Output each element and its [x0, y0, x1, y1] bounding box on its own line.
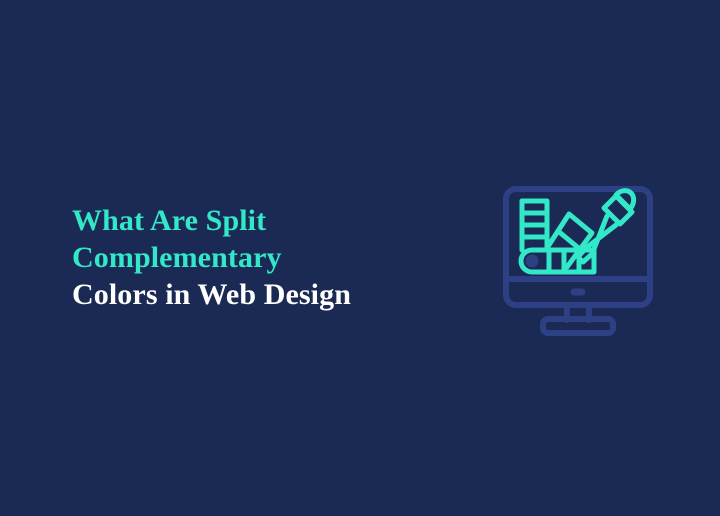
monitor-stand: [543, 305, 613, 333]
page-title: What Are Split Complementary Colors in W…: [72, 202, 472, 313]
headline-line-2: Complementary: [72, 239, 472, 276]
banner: What Are Split Complementary Colors in W…: [0, 0, 720, 516]
headline-line-1: What Are Split: [72, 202, 472, 239]
headline-line-3: Colors in Web Design: [72, 276, 472, 313]
monitor-color-swatch-eyedropper-icon: [495, 172, 660, 337]
